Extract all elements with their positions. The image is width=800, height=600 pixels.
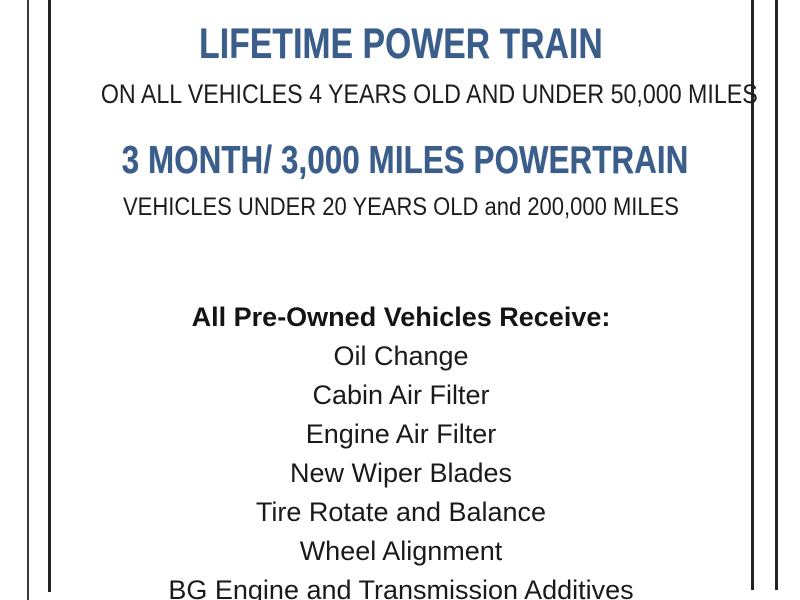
warranty-headline-lifetime-power-train: LIFETIME POWER TRAIN [129,22,673,66]
service-item-wheel-alignment: Wheel Alignment [52,532,750,571]
service-item-new-wiper-blades: New Wiper Blades [52,454,750,493]
flyer-page: LIFETIME POWER TRAIN ON ALL VEHICLES 4 Y… [0,0,800,600]
warranty-subline-3-month-powertrain: VEHICLES UNDER 20 YEARS OLD and 200,000 … [94,193,708,221]
services-list-title: All Pre-Owned Vehicles Receive: [52,298,750,337]
frame-rule-left-inner [48,0,51,592]
flyer-content: LIFETIME POWER TRAIN ON ALL VEHICLES 4 Y… [52,0,750,600]
frame-rule-right-outer [775,0,778,590]
service-item-tire-rotate-and-balance: Tire Rotate and Balance [52,493,750,532]
frame-rule-left-outer [27,0,29,600]
service-item-oil-change: Oil Change [52,337,750,376]
warranty-subline-lifetime-power-train: ON ALL VEHICLES 4 YEARS OLD AND UNDER 50… [101,79,701,109]
services-list: All Pre-Owned Vehicles Receive: Oil Chan… [52,298,750,600]
service-item-bg-engine-transmission-additives: BG Engine and Transmission Additives [52,571,750,600]
warranty-headline-3-month-powertrain: 3 MONTH/ 3,000 MILES POWERTRAIN [122,141,680,181]
service-item-engine-air-filter: Engine Air Filter [52,415,750,454]
service-item-cabin-air-filter: Cabin Air Filter [52,376,750,415]
